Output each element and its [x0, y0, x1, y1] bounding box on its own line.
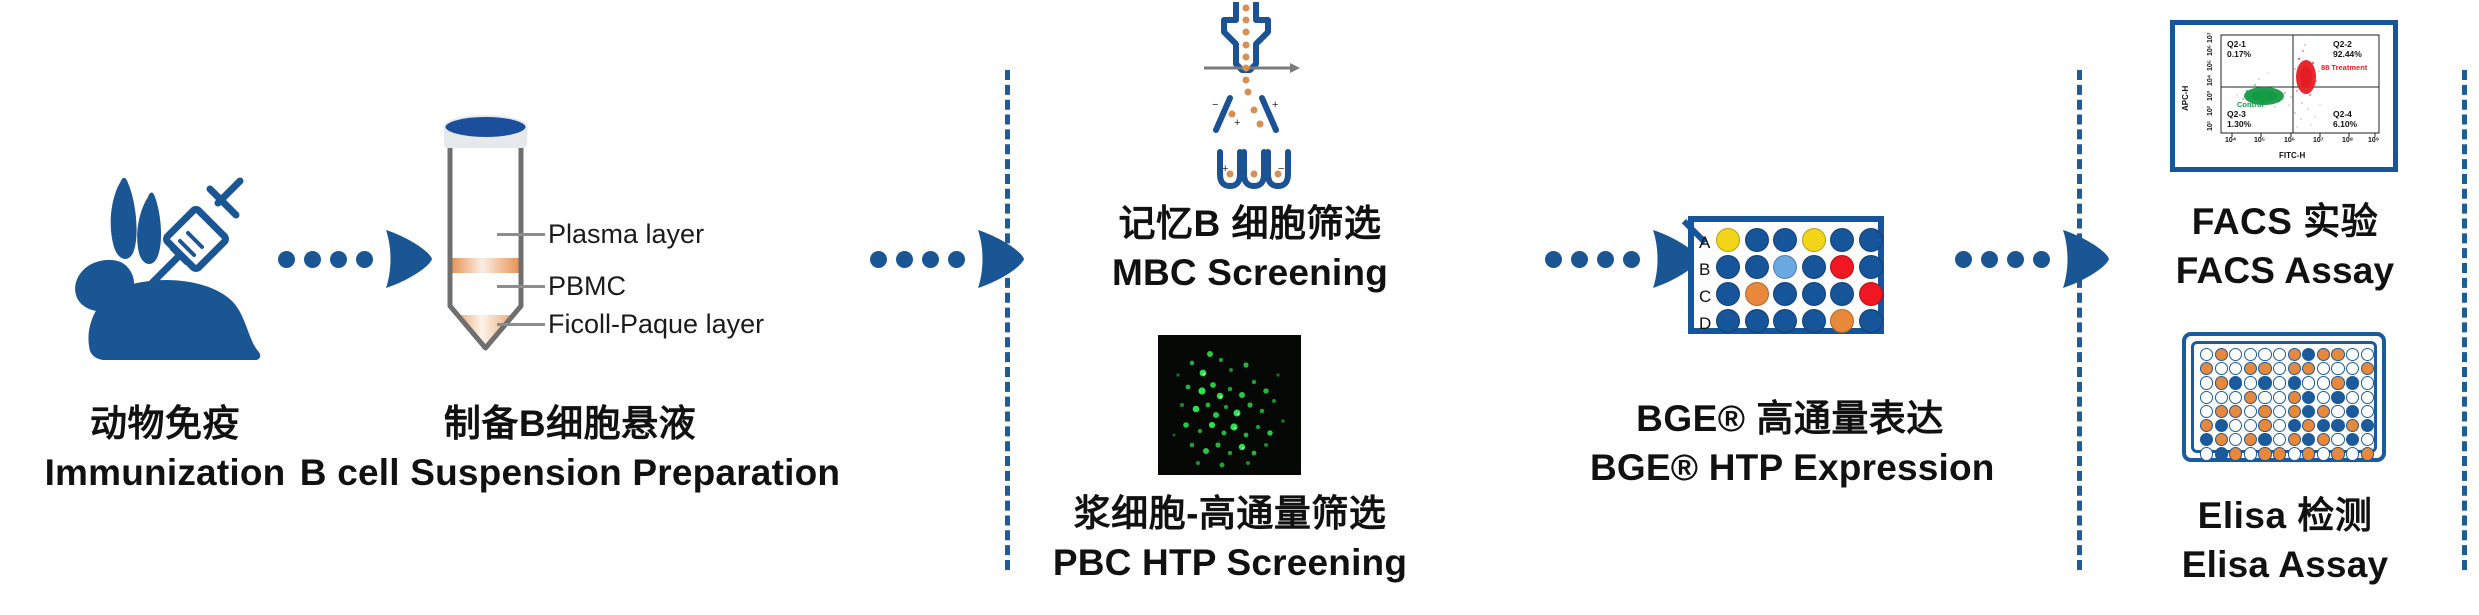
caption-mbc-screening: 记忆B 细胞筛选 MBC Screening: [1020, 200, 1480, 298]
plate24-well-B6: [1859, 255, 1883, 279]
plate24-well-D1: [1716, 309, 1740, 333]
plate96-well-G10: [2331, 433, 2344, 446]
plate24-well-C3: [1773, 282, 1797, 306]
plate24-well-A5: [1830, 228, 1854, 252]
section-divider-2: [2077, 70, 2082, 570]
plate96-well-E4: [2244, 405, 2257, 418]
svg-text:+: +: [1272, 99, 1278, 111]
microplate-96-icon: [2182, 332, 2386, 462]
plate96-well-A7: [2288, 348, 2301, 361]
plate24-well-D5: [1830, 309, 1854, 333]
plate96-well-C8: [2302, 376, 2315, 389]
svg-text:+: +: [1222, 163, 1228, 175]
tube-label-plasma: Plasma layer: [548, 219, 704, 250]
plate96-well-A10: [2331, 348, 2344, 361]
plate96-well-E7: [2288, 405, 2301, 418]
tube-leader-plasma: [497, 233, 545, 236]
facs-xtick: 10⁵: [2254, 137, 2265, 144]
plate96-well-D10: [2331, 391, 2344, 404]
facs-ytick: 10⁶: [2207, 45, 2214, 56]
facs-quadrant-q2-1: Q2-1 0.17%: [2227, 39, 2251, 59]
caption-facs-assay: FACS 实验 FACS Assay: [2140, 198, 2430, 296]
plate24-well-C5: [1830, 282, 1854, 306]
plate96-well-C1: [2200, 376, 2213, 389]
plate96-well-D6: [2273, 391, 2286, 404]
caption-en: B cell Suspension Preparation: [270, 449, 870, 498]
caption-en: MBC Screening: [1020, 249, 1480, 298]
plate96-well-B5: [2258, 362, 2271, 375]
facs-xtick: 10⁶: [2284, 137, 2295, 144]
plate24-well-A1: [1716, 228, 1740, 252]
caption-cn: FACS 实验: [2140, 198, 2430, 247]
facs-ytick: 10⁷: [2207, 32, 2214, 43]
arrow-head-icon: [974, 228, 1026, 290]
plate96-well-D11: [2346, 391, 2359, 404]
facs-yaxis-label: APC-H: [2181, 86, 2190, 111]
workflow-diagram: 动物免疫 Immunization: [0, 0, 2479, 615]
plate24-well-B3: [1773, 255, 1797, 279]
plate24-well-C4: [1802, 282, 1826, 306]
plate96-well-C2: [2215, 376, 2228, 389]
plate96-well-C3: [2229, 376, 2242, 389]
svg-text:−: −: [1278, 163, 1284, 175]
svg-text:+: +: [1234, 117, 1240, 129]
arrow-head-icon: [2059, 228, 2111, 290]
plate96-well-F10: [2331, 419, 2344, 432]
tube-label-pbmc: PBMC: [548, 271, 626, 302]
plate24-well-B2: [1745, 255, 1769, 279]
plate96-well-A12: [2361, 348, 2374, 361]
plate96-well-C12: [2361, 376, 2374, 389]
facs-annotation-treatment: 88 Treatment: [2321, 63, 2367, 72]
facs-xaxis-label: FITC-H: [2279, 151, 2305, 160]
facs-xtick: 10⁸: [2342, 137, 2353, 144]
plate24-row-label-A: A: [1699, 233, 1710, 253]
tube-leader-ficoll: [497, 323, 545, 326]
plate96-well-B10: [2331, 362, 2344, 375]
plate24-well-A4: [1802, 228, 1826, 252]
svg-text:−: −: [1212, 99, 1218, 111]
caption-cn: Elisa 检测: [2140, 492, 2430, 541]
facs-quadrant-name: Q2-3: [2227, 109, 2246, 119]
facs-quadrant-q2-2: Q2-2 92.44%: [2333, 39, 2362, 59]
plate96-well-A2: [2215, 348, 2228, 361]
facs-quadrant-name: Q2-4: [2333, 109, 2352, 119]
arrow-dot: [278, 251, 295, 268]
arrow-dot: [304, 251, 321, 268]
fluorescence-micrograph-icon: [1158, 335, 1301, 475]
arrow-head-icon: [382, 228, 434, 290]
caption-en: FACS Assay: [2140, 247, 2430, 296]
caption-cn: 制备B细胞悬液: [270, 400, 870, 449]
facs-ytick: 10⁴: [2207, 75, 2214, 86]
facs-quadrant-q2-4: Q2-4 6.10%: [2333, 109, 2357, 129]
plate96-well-C11: [2346, 376, 2359, 389]
facs-ytick: 10³: [2207, 91, 2214, 101]
plate24-well-B1: [1716, 255, 1740, 279]
arrow-dot: [1623, 251, 1640, 268]
arrow-dot: [1545, 251, 1562, 268]
plate96-well-F7: [2288, 419, 2301, 432]
plate24-row-label-D: D: [1699, 314, 1711, 334]
arrow-dot: [2033, 251, 2050, 268]
plate96-well-D12: [2361, 391, 2374, 404]
plate96-well-C9: [2317, 376, 2330, 389]
plate24-well-C2: [1745, 282, 1769, 306]
facs-ytick: 10²: [2207, 106, 2214, 116]
plate24-well-A6: [1859, 228, 1883, 252]
plate24-well-B5: [1830, 255, 1854, 279]
arrow-dot: [948, 251, 965, 268]
caption-en: Elisa Assay: [2140, 541, 2430, 590]
facs-quadrant-q2-3: Q2-3 1.30%: [2227, 109, 2251, 129]
facs-quadrant-value: 6.10%: [2333, 119, 2357, 129]
rabbit-syringe-icon: [60, 175, 280, 365]
plate96-well-E9: [2317, 405, 2330, 418]
flow-arrow-1: [278, 228, 434, 290]
tube-leader-pbmc: [497, 285, 545, 288]
plate96-well-D5: [2258, 391, 2271, 404]
plate96-well-C7: [2288, 376, 2301, 389]
plate96-well-D9: [2317, 391, 2330, 404]
plate96-well-F2: [2215, 419, 2228, 432]
plate96-well-D7: [2288, 391, 2301, 404]
arrow-dot: [1571, 251, 1588, 268]
arrow-dot: [330, 251, 347, 268]
facs-ytick: 10¹: [2207, 121, 2214, 131]
facs-quadrant-value: 0.17%: [2227, 49, 2251, 59]
plate96-well-A5: [2258, 348, 2271, 361]
plate96-well-C10: [2331, 376, 2344, 389]
plate96-well-D4: [2244, 391, 2257, 404]
plate24-well-B4: [1802, 255, 1826, 279]
facs-xtick: 10⁷: [2313, 137, 2324, 144]
facs-ytick: 10⁵: [2207, 60, 2214, 71]
caption-cn: BGE® 高通量表达: [1590, 395, 1990, 444]
plate96-well-C6: [2273, 376, 2286, 389]
plate24-row-label-B: B: [1699, 260, 1710, 280]
facs-quadrant-value: 92.44%: [2333, 49, 2362, 59]
tube-label-ficoll: Ficoll-Paque layer: [548, 309, 764, 340]
cell-sorter-icon: − + + + −: [1186, 2, 1306, 207]
plate96-well-H8: [2302, 447, 2315, 460]
plate96-well-H5: [2258, 447, 2271, 460]
facs-quadrant-name: Q2-1: [2227, 39, 2246, 49]
plate24-well-D6: [1859, 309, 1883, 333]
arrow-dot: [1981, 251, 1998, 268]
plate96-well-D1: [2200, 391, 2213, 404]
plate96-well-F12: [2361, 419, 2374, 432]
caption-bge-htp-expression: BGE® 高通量表达 BGE® HTP Expression: [1590, 395, 1990, 493]
plate24-well-C6: [1859, 282, 1883, 306]
facs-quadrant-name: Q2-2: [2333, 39, 2352, 49]
plate96-well-C4: [2244, 376, 2257, 389]
plate96-well-F5: [2258, 419, 2271, 432]
facs-annotation-control: Control: [2237, 100, 2264, 109]
plate96-well-G5: [2258, 433, 2271, 446]
plate96-well-H7: [2288, 447, 2301, 460]
facs-scatter-icon: Q2-1 0.17% Q2-2 92.44% Q2-3 1.30% Q2-4 6…: [2170, 20, 2398, 172]
plate24-well-D2: [1745, 309, 1769, 333]
caption-en: PBC HTP Screening: [1010, 539, 1450, 588]
plate24-well-A3: [1773, 228, 1797, 252]
caption-pbc-htp-screening: 浆细胞-高通量筛选 PBC HTP Screening: [1010, 490, 1450, 588]
flow-arrow-4: [1955, 228, 2111, 290]
plate96-well-E10: [2331, 405, 2344, 418]
arrow-dot: [1955, 251, 1972, 268]
plate96-well-D2: [2215, 391, 2228, 404]
centrifuge-tube-icon: [428, 110, 543, 365]
plate96-well-H10: [2331, 447, 2344, 460]
caption-cn: 浆细胞-高通量筛选: [1010, 490, 1450, 539]
plate96-well-E2: [2215, 405, 2228, 418]
plate96-well-H1: [2200, 447, 2213, 460]
plate96-well-H2: [2215, 447, 2228, 460]
caption-elisa-assay: Elisa 检测 Elisa Assay: [2140, 492, 2430, 590]
plate96-well-H4: [2244, 447, 2257, 460]
plate96-well-H3: [2229, 447, 2242, 460]
plate96-well-E12: [2361, 405, 2374, 418]
arrow-dot: [896, 251, 913, 268]
plate96-well-H12: [2361, 447, 2374, 460]
plate24-well-D4: [1802, 309, 1826, 333]
plate96-well-C5: [2258, 376, 2271, 389]
arrow-dot: [356, 251, 373, 268]
plate24-well-A2: [1745, 228, 1769, 252]
caption-en: BGE® HTP Expression: [1590, 444, 1990, 493]
arrow-dot: [2007, 251, 2024, 268]
arrow-dot: [922, 251, 939, 268]
facs-xtick: 10⁹: [2368, 137, 2379, 144]
plate24-well-D3: [1773, 309, 1797, 333]
plate24-well-C1: [1716, 282, 1740, 306]
plate96-well-H11: [2346, 447, 2359, 460]
caption-cn: 记忆B 细胞筛选: [1020, 200, 1480, 249]
microplate-24-icon: ABCD: [1688, 216, 1884, 334]
plate24-row-label-C: C: [1699, 287, 1711, 307]
arrow-dot: [1597, 251, 1614, 268]
flow-arrow-2: [870, 228, 1026, 290]
flow-arrow-3: [1545, 228, 1701, 290]
plate96-well-H6: [2273, 447, 2286, 460]
arrow-dot: [870, 251, 887, 268]
facs-xtick: 10⁴: [2225, 137, 2236, 144]
section-divider-3: [2462, 70, 2467, 570]
facs-quadrant-value: 1.30%: [2227, 119, 2251, 129]
caption-b-cell-suspension: 制备B细胞悬液 B cell Suspension Preparation: [270, 400, 870, 498]
plate96-well-H9: [2317, 447, 2330, 460]
plate96-well-E5: [2258, 405, 2271, 418]
